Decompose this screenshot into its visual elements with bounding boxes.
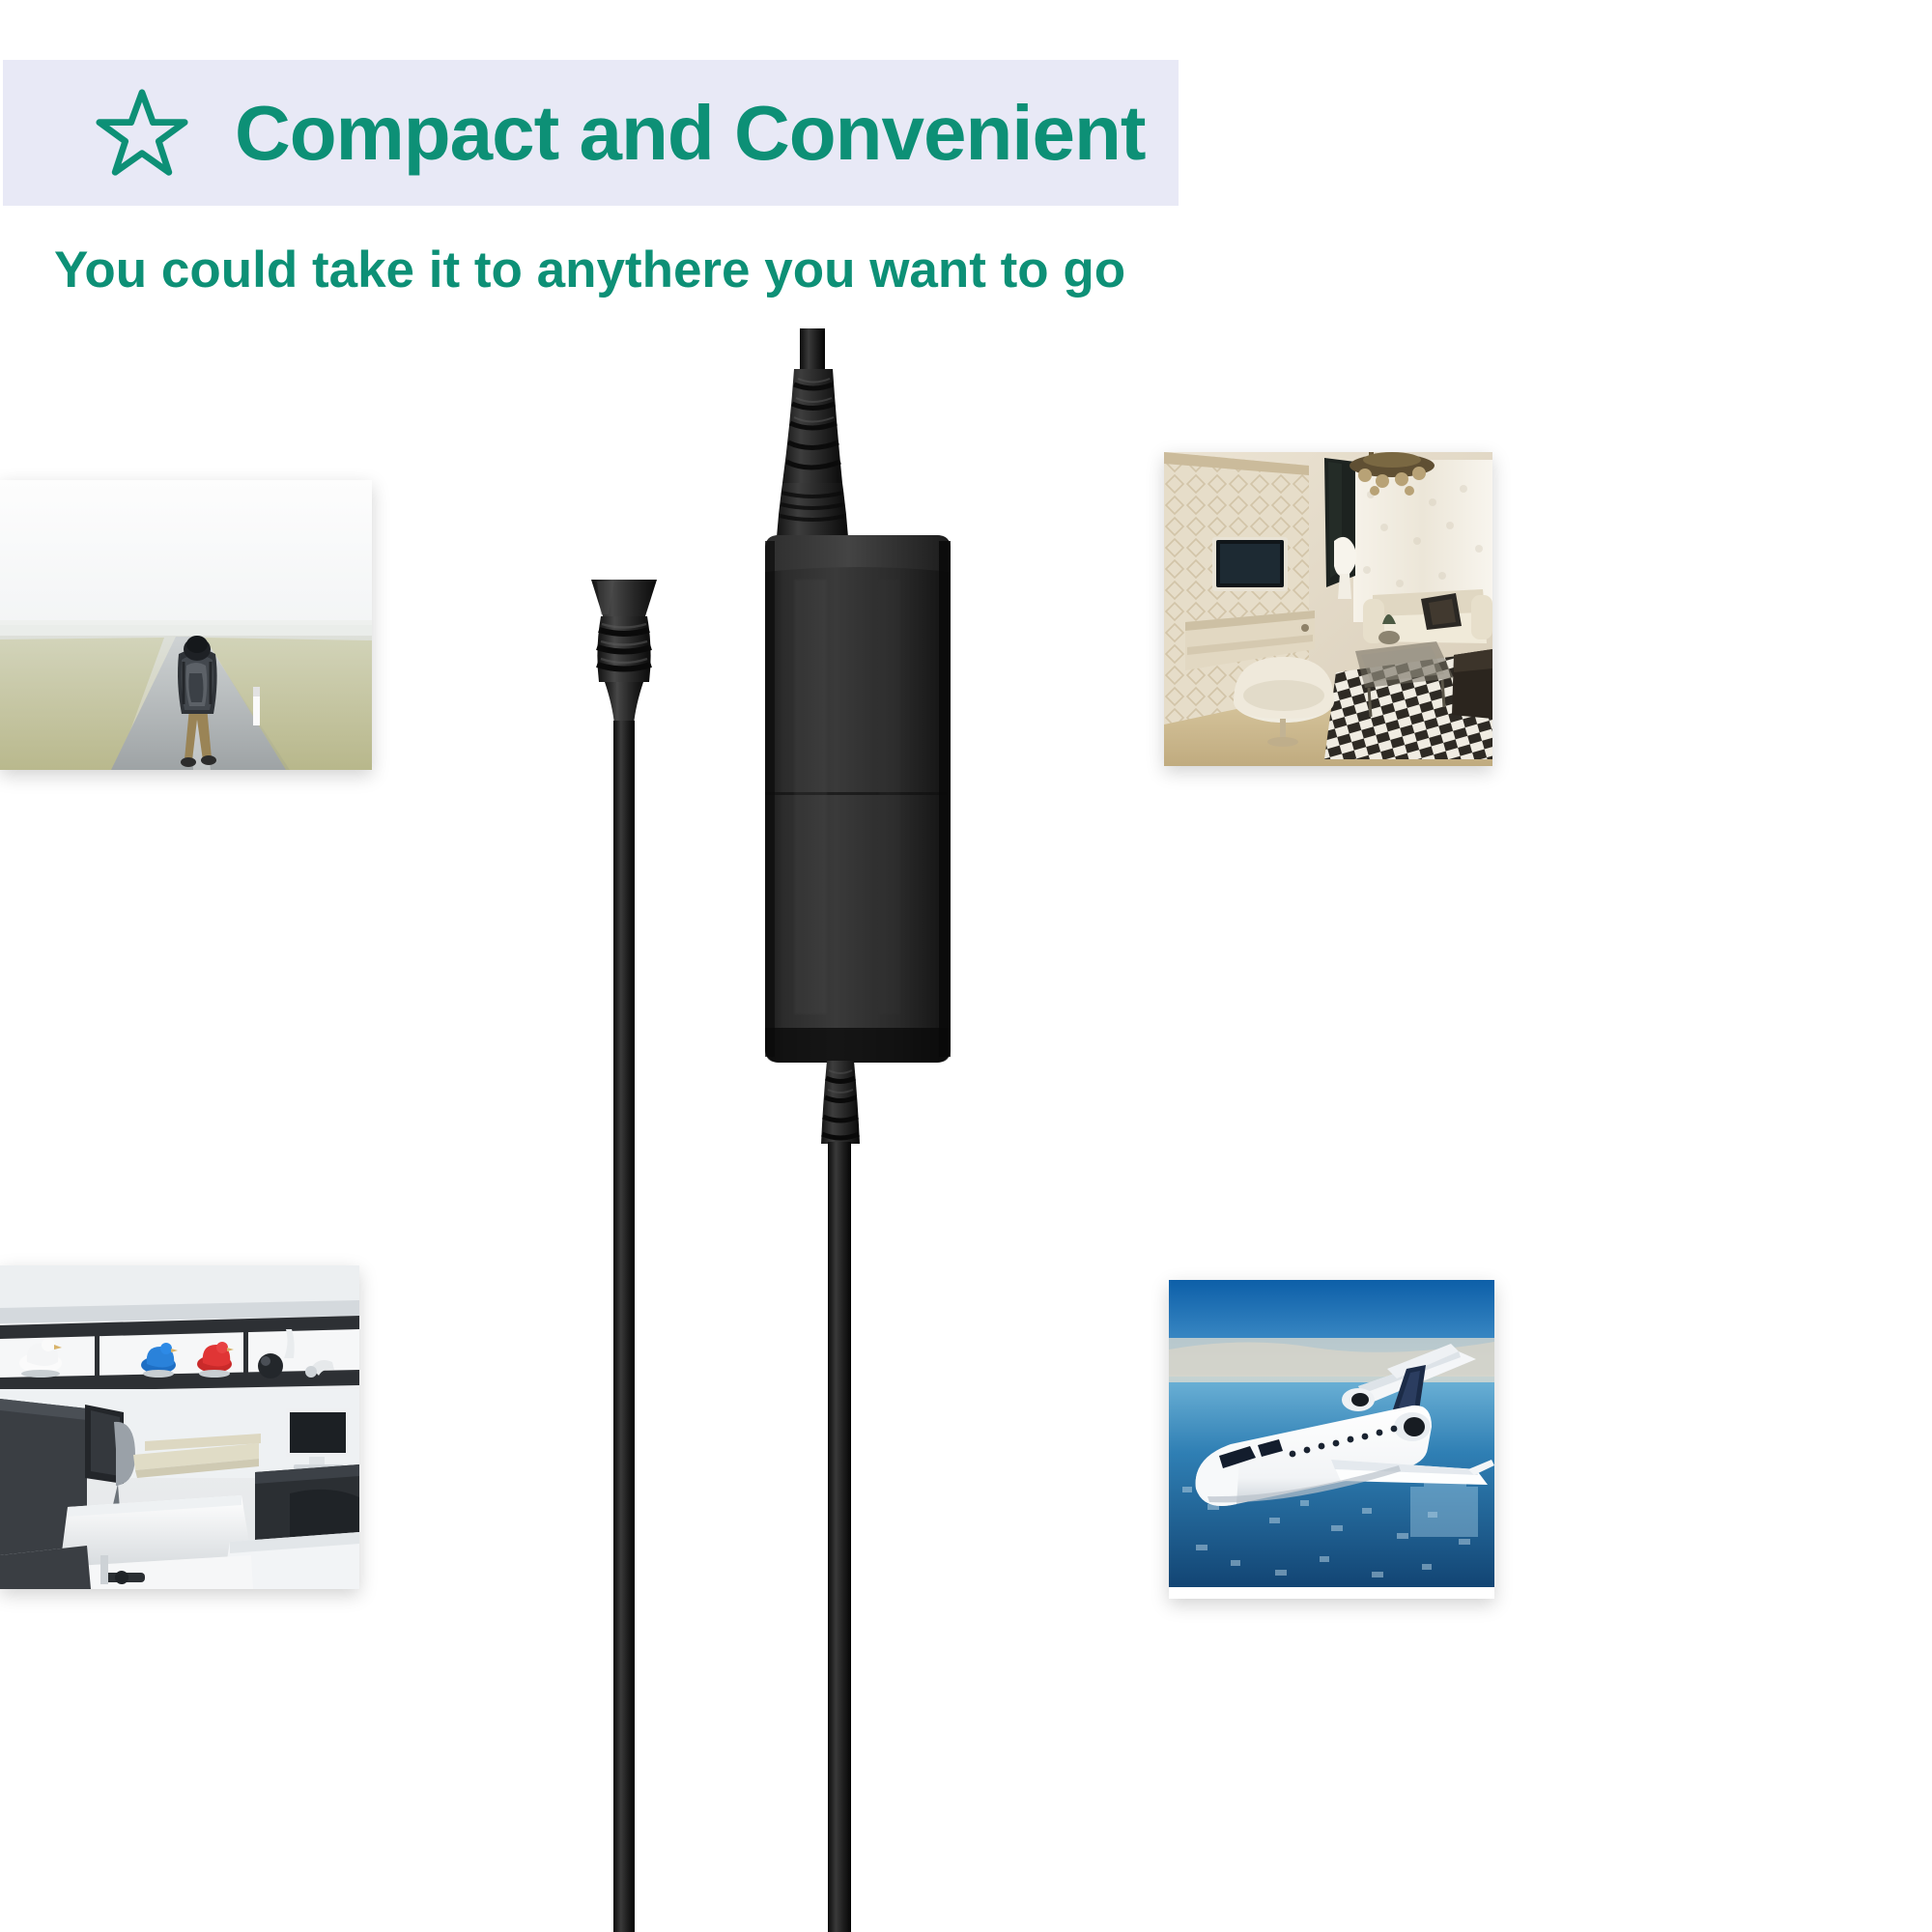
page-subtitle: You could take it to anythere you want t… [54, 240, 1125, 301]
hiker-on-road-photo [0, 480, 372, 770]
output-cord-boot [821, 1061, 860, 1144]
star-outline-icon [96, 87, 188, 180]
adapter-brick [765, 535, 951, 1063]
strain-relief-boot [782, 369, 842, 483]
office-interior-photo [0, 1265, 359, 1589]
dc-cable [613, 721, 635, 1932]
output-cord [828, 1142, 851, 1932]
ac-power-adapter [541, 338, 1140, 1932]
page-title: Compact and Convenient [235, 95, 1146, 172]
private-jet-photo [1169, 1280, 1494, 1599]
dc-barrel-connector [591, 580, 657, 724]
header-banner: Compact and Convenient [3, 60, 1179, 206]
living-room-photo [1164, 452, 1492, 766]
